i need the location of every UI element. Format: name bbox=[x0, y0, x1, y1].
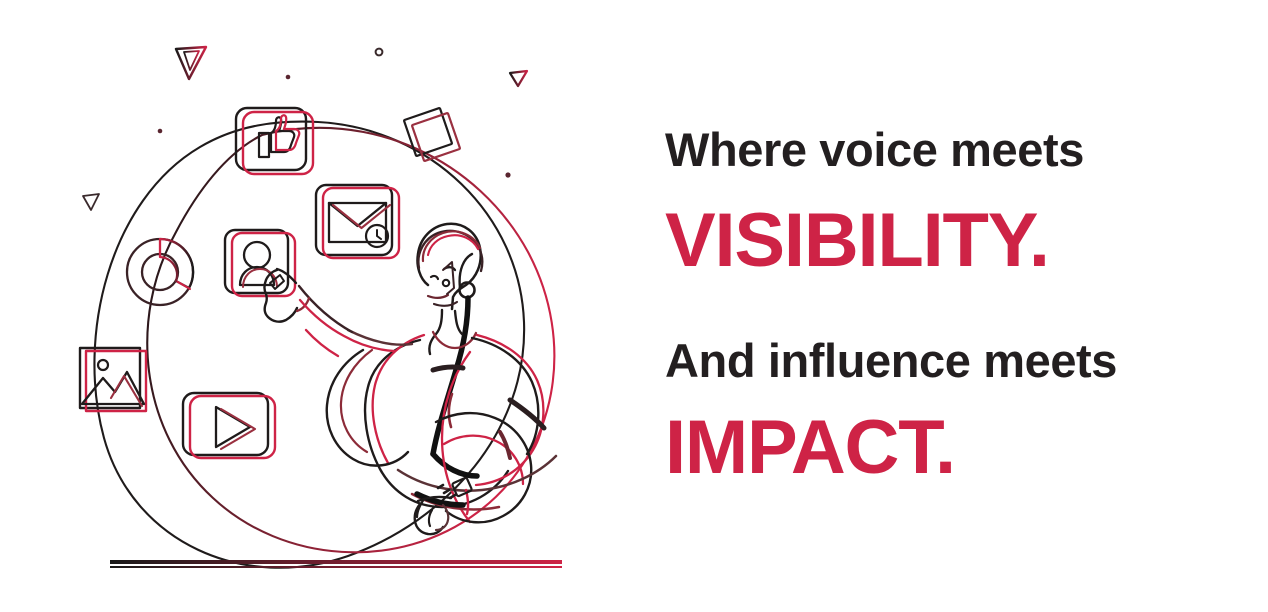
dot-3 bbox=[158, 129, 163, 134]
triangle-large bbox=[176, 47, 206, 79]
dot-1 bbox=[376, 49, 383, 56]
play-video-icon bbox=[183, 393, 275, 458]
marketing-banner: Where voice meets VISIBILITY. And influe… bbox=[0, 0, 1268, 612]
headline-line-3: And influence meets bbox=[665, 337, 1117, 384]
donut-chart-icon bbox=[127, 239, 193, 305]
person-with-headset bbox=[265, 224, 557, 534]
hero-illustration bbox=[0, 0, 640, 612]
triangle-small-right bbox=[510, 71, 527, 86]
ground-line bbox=[110, 560, 562, 568]
image-photo-icon bbox=[80, 348, 146, 411]
headline-line-2-visibility: VISIBILITY. bbox=[665, 203, 1049, 279]
thumbs-up-icon bbox=[236, 108, 313, 174]
tilted-square bbox=[404, 108, 460, 161]
user-avatar-icon bbox=[225, 230, 295, 296]
orbit-ring-outer bbox=[94, 122, 524, 568]
envelope-icon bbox=[316, 185, 399, 258]
dot-2 bbox=[286, 75, 291, 80]
headline-copy: Where voice meets VISIBILITY. And influe… bbox=[665, 0, 1245, 612]
dot-4 bbox=[505, 172, 510, 177]
headline-line-1: Where voice meets bbox=[665, 126, 1084, 173]
headline-line-4-impact: IMPACT. bbox=[665, 410, 955, 486]
triangle-small-left bbox=[83, 194, 99, 210]
